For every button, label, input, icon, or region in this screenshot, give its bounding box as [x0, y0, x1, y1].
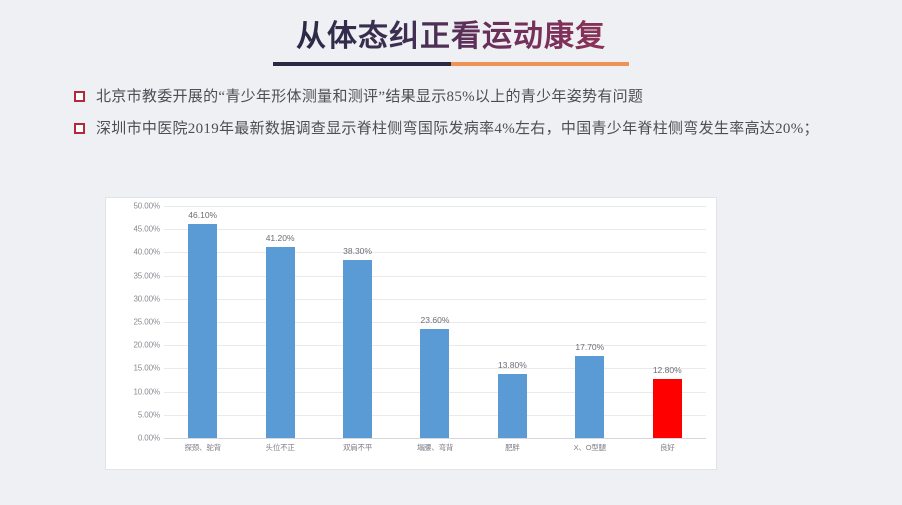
y-axis-tick-label: 40.00% — [133, 248, 160, 257]
bar-slot: 41.20% — [241, 206, 318, 438]
bullet-list: 北京市教委开展的“青少年形体测量和测评”结果显示85%以上的青少年姿势有问题 深… — [74, 84, 844, 148]
y-axis: 50.00%45.00%40.00%35.00%30.00%25.00%20.0… — [112, 206, 160, 438]
page-title: 从体态纠正看运动康复 — [296, 18, 606, 56]
y-axis-tick-label: 45.00% — [133, 225, 160, 234]
chart-bar[interactable]: 17.70% — [575, 356, 604, 438]
title-underline-right-segment — [451, 62, 629, 66]
chart-bar[interactable]: 38.30% — [343, 260, 372, 438]
x-axis-tick-label: 肥胖 — [474, 442, 551, 453]
x-axis-tick-label: 头位不正 — [241, 442, 318, 453]
x-axis: 探颈、驼背头位不正双肩不平塌腰、弯背肥胖X、O型腿良好 — [164, 442, 706, 453]
list-item: 北京市教委开展的“青少年形体测量和测评”结果显示85%以上的青少年姿势有问题 — [74, 84, 844, 110]
bar-value-label: 38.30% — [343, 246, 372, 256]
bullet-text: 北京市教委开展的“青少年形体测量和测评”结果显示85%以上的青少年姿势有问题 — [96, 84, 643, 110]
bar-slot: 46.10% — [164, 206, 241, 438]
chart-card: 50.00%45.00%40.00%35.00%30.00%25.00%20.0… — [105, 197, 717, 470]
chart-bar[interactable]: 12.80% — [653, 379, 682, 438]
title-underline-left-segment — [273, 62, 451, 66]
y-axis-tick-label: 0.00% — [138, 434, 160, 443]
bar-value-label: 46.10% — [188, 210, 217, 220]
y-axis-tick-label: 50.00% — [133, 202, 160, 211]
bar-value-label: 12.80% — [653, 365, 682, 375]
bar-value-label: 13.80% — [498, 360, 527, 370]
chart-bar[interactable]: 41.20% — [266, 247, 295, 438]
bullet-text: 深圳市中医院2019年最新数据调查显示脊柱侧弯国际发病率4%左右，中国青少年脊柱… — [96, 116, 819, 142]
plot-area: 46.10%41.20%38.30%23.60%13.80%17.70%12.8… — [164, 206, 706, 438]
y-axis-tick-label: 20.00% — [133, 341, 160, 350]
x-axis-tick-label: 探颈、驼背 — [164, 442, 241, 453]
square-bullet-icon — [74, 123, 85, 134]
bar-value-label: 23.60% — [421, 315, 450, 325]
x-axis-tick-label: 塌腰、弯背 — [396, 442, 473, 453]
chart-bar[interactable]: 23.60% — [420, 329, 449, 439]
list-item: 深圳市中医院2019年最新数据调查显示脊柱侧弯国际发病率4%左右，中国青少年脊柱… — [74, 116, 844, 142]
y-axis-tick-label: 15.00% — [133, 364, 160, 373]
chart-bar[interactable]: 46.10% — [188, 224, 217, 438]
bar-value-label: 41.20% — [266, 233, 295, 243]
x-axis-tick-label: 良好 — [629, 442, 706, 453]
slide-title-block: 从体态纠正看运动康复 — [0, 0, 902, 66]
y-axis-tick-label: 25.00% — [133, 318, 160, 327]
bar-slot: 12.80% — [629, 206, 706, 438]
bar-slot: 13.80% — [474, 206, 551, 438]
x-axis-tick-label: 双肩不平 — [319, 442, 396, 453]
y-axis-tick-label: 30.00% — [133, 294, 160, 303]
gridline — [164, 438, 706, 439]
bar-slot: 38.30% — [319, 206, 396, 438]
bar-slot: 23.60% — [396, 206, 473, 438]
x-axis-tick-label: X、O型腿 — [551, 442, 628, 453]
y-axis-tick-label: 10.00% — [133, 387, 160, 396]
y-axis-tick-label: 5.00% — [138, 410, 160, 419]
bar-value-label: 17.70% — [575, 342, 604, 352]
chart-bar[interactable]: 13.80% — [498, 374, 527, 438]
bars-layer: 46.10%41.20%38.30%23.60%13.80%17.70%12.8… — [164, 206, 706, 438]
title-underline — [273, 62, 629, 66]
bar-slot: 17.70% — [551, 206, 628, 438]
bar-chart: 50.00%45.00%40.00%35.00%30.00%25.00%20.0… — [106, 198, 716, 469]
square-bullet-icon — [74, 91, 85, 102]
y-axis-tick-label: 35.00% — [133, 271, 160, 280]
